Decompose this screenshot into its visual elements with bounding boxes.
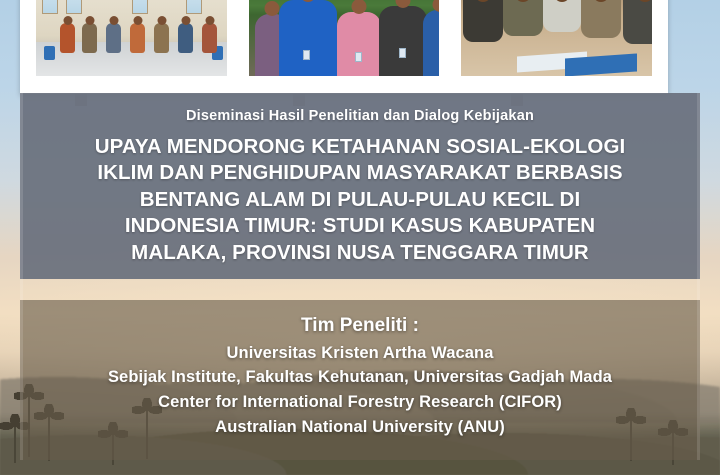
title-line: INDONESIA TIMUR: STUDI KASUS KABUPATEN: [38, 213, 682, 240]
photo-image: [36, 0, 227, 76]
participants-group-photo: [243, 0, 446, 84]
seminar-poster: Diseminasi Hasil Penelitian dan Dialog K…: [0, 0, 720, 475]
panel-left-edge: [20, 93, 23, 460]
title-panel: Diseminasi Hasil Penelitian dan Dialog K…: [20, 93, 700, 279]
photo-strip: [20, 0, 668, 94]
institution-name: Australian National University (ANU): [20, 415, 700, 440]
title-line: BENTANG ALAM DI PULAU-PULAU KECIL DI: [38, 187, 682, 214]
research-team-panel: Tim Peneliti : Universitas Kristen Artha…: [20, 300, 700, 460]
photo-image: [249, 0, 440, 76]
title-line: IKLIM DAN PENGHIDUPAN MASYARAKAT BERBASI…: [38, 160, 682, 187]
photo-image: [461, 0, 652, 76]
palm-tree-silhouette: [14, 423, 16, 463]
institution-name: Sebijak Institute, Fakultas Kehutanan, U…: [20, 365, 700, 390]
team-heading: Tim Peneliti :: [20, 313, 700, 339]
institution-name: Center for International Forestry Resear…: [20, 390, 700, 415]
institution-name: Universitas Kristen Artha Wacana: [20, 341, 700, 366]
title-line: MALAKA, PROVINSI NUSA TENGGARA TIMUR: [38, 240, 682, 267]
event-subtitle: Diseminasi Hasil Penelitian dan Dialog K…: [38, 107, 682, 127]
participatory-mapping-photo: [455, 0, 658, 84]
title-line: UPAYA MENDORONG KETAHANAN SOSIAL-EKOLOGI: [38, 134, 682, 161]
community-meeting-photo: [30, 0, 233, 84]
panel-right-edge: [697, 93, 700, 460]
page-title: UPAYA MENDORONG KETAHANAN SOSIAL-EKOLOGI…: [38, 134, 682, 267]
